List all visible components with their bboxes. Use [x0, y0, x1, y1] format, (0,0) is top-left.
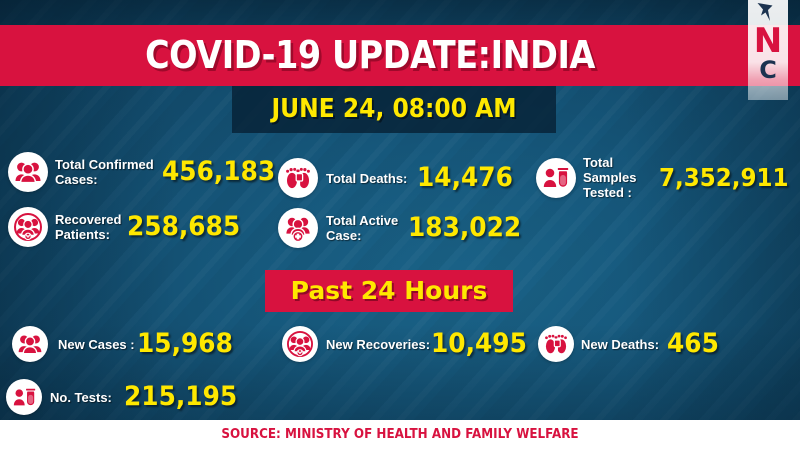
feet-toe-tag-icon	[278, 158, 318, 198]
feet-toe-tag-icon	[538, 326, 574, 362]
footer-source-text: SOURCE: MINISTRY OF HEALTH AND FAMILY WE…	[32, 420, 768, 450]
group-people-icon	[8, 152, 48, 192]
stat-no-tests: No. Tests: 215,195	[6, 379, 247, 415]
stat-value: 465	[667, 330, 719, 358]
stat-value: 456,183	[162, 158, 275, 186]
stat-new-cases: New Cases : 15,968	[12, 326, 241, 362]
stat-value: 14,476	[417, 164, 513, 192]
person-test-tube-icon	[536, 158, 576, 198]
stat-new-deaths: New Deaths: 465	[538, 326, 723, 362]
stat-label: No. Tests:	[50, 389, 112, 406]
stat-label: Total Deaths:	[326, 170, 407, 187]
stat-label: Recovered Patients:	[55, 212, 121, 242]
logo-mark: N C	[748, 0, 788, 100]
stat-value: 10,495	[431, 330, 527, 358]
stat-total-deaths: Total Deaths: 14,476	[278, 158, 522, 198]
stat-label: Total Confirmed Cases:	[55, 157, 154, 187]
logo-letter-n: N	[748, 24, 788, 58]
infographic-root: COVID-19 UPDATE:INDIA JUNE 24, 08:00 AM …	[0, 0, 800, 450]
channel-logo: N C	[748, 0, 788, 100]
stat-total-confirmed-cases: Total Confirmed Cases: 456,183	[8, 152, 285, 192]
stat-value: 183,022	[408, 214, 521, 242]
stat-total-active-cases: Total Active Case: 183,022	[278, 208, 531, 248]
stat-label: Total Samples Tested :	[583, 155, 654, 200]
stat-new-recoveries: New Recoveries: 10,495	[282, 326, 535, 362]
recovered-people-circle-icon	[282, 326, 318, 362]
page-title: COVID-19 UPDATE:INDIA	[44, 27, 695, 83]
stat-label: New Recoveries:	[326, 336, 430, 353]
stat-value: 258,685	[127, 213, 240, 241]
stat-label: New Deaths:	[581, 336, 659, 353]
stat-total-samples-tested: Total Samples Tested : 7,352,911	[536, 155, 800, 200]
person-test-tube-icon	[6, 379, 42, 415]
past-24-hours-label: Past 24 Hours	[265, 270, 513, 312]
stat-label: Total Active Case:	[326, 213, 398, 243]
people-medical-cross-icon	[278, 208, 318, 248]
logo-letter-c: C	[748, 58, 788, 82]
stat-value: 215,195	[124, 383, 237, 411]
recovered-people-circle-icon	[8, 207, 48, 247]
stat-value: 7,352,911	[659, 164, 789, 192]
stat-recovered-patients: Recovered Patients: 258,685	[8, 207, 250, 247]
date-text: JUNE 24, 08:00 AM	[248, 86, 540, 133]
stat-value: 15,968	[137, 330, 233, 358]
stat-label: New Cases :	[58, 336, 135, 353]
group-people-icon	[12, 326, 48, 362]
